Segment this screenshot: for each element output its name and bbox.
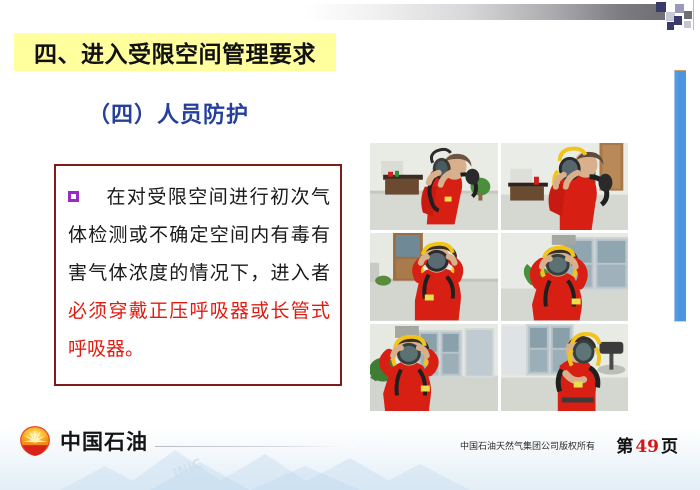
photo-cell: [370, 233, 498, 320]
page-title: 四、进入受限空间管理要求: [34, 35, 316, 69]
deco-square: [667, 22, 674, 30]
slide-canvas: 四、进入受限空间管理要求 （四）人员防护 在对受限空间进行初次气体检测或不确定空…: [0, 0, 700, 490]
deco-square: [656, 2, 666, 12]
top-gradient-bar: [305, 4, 665, 20]
body-text-black: 在对受限空间进行初次气体检测或不确定空间内有毒有害气体浓度的情况下，进入者: [68, 186, 330, 284]
slide-title-banner: 四、进入受限空间管理要求: [14, 33, 336, 71]
copyright-text: 中国石油天然气集团公司版权所有: [460, 439, 595, 452]
page-number-block: 第49页: [616, 432, 678, 457]
deco-divider: [693, 0, 694, 30]
photo-cell: [501, 324, 629, 411]
square-bullet-icon: [68, 191, 79, 202]
body-paragraph: 在对受限空间进行初次气体检测或不确定空间内有毒有害气体浓度的情况下，进入者必须穿…: [68, 178, 330, 368]
svg-text:INIC: INIC: [171, 457, 205, 482]
deco-square: [684, 21, 691, 28]
deco-square: [674, 16, 682, 25]
brand-name: 中国石油: [60, 426, 148, 456]
photo-grid: [370, 143, 628, 411]
page-prefix: 第: [616, 437, 633, 457]
photo-cell: [501, 143, 629, 230]
photo-cell: [370, 143, 498, 230]
photo-cell: [501, 233, 629, 320]
photo-1-illustration: [370, 143, 498, 230]
brand-block: 中国石油: [18, 424, 148, 458]
photo-2-illustration: [501, 143, 629, 230]
deco-square: [675, 4, 684, 13]
page-suffix: 页: [661, 437, 678, 457]
body-text-highlight: 必须穿戴正压呼吸器或长管式呼吸器。: [68, 300, 330, 360]
footer-divider-rule: [155, 446, 355, 447]
page-number: 49: [633, 437, 661, 457]
petrochina-sunburst-logo-icon: [18, 424, 52, 458]
photo-5-illustration: [370, 324, 498, 411]
photo-3-illustration: [370, 233, 498, 320]
deco-square: [684, 11, 692, 19]
right-accent-rail: [674, 70, 686, 322]
photo-6-illustration: [501, 324, 629, 411]
photo-4-illustration: [501, 233, 629, 320]
photo-cell: [370, 324, 498, 411]
section-subtitle: （四）人员防护: [88, 97, 249, 129]
body-text-box: 在对受限空间进行初次气体检测或不确定空间内有毒有害气体浓度的情况下，进入者必须穿…: [54, 164, 342, 386]
